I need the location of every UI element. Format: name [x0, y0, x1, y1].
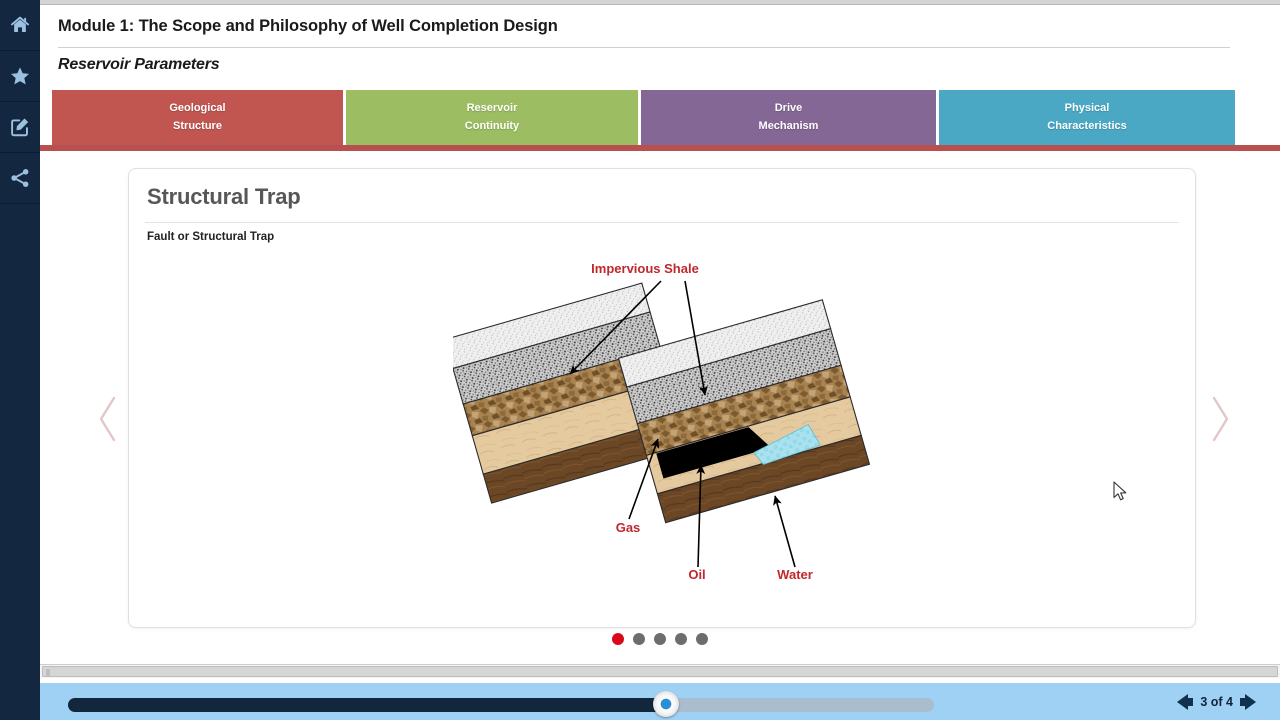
- home-icon: [9, 14, 31, 36]
- tab-physical-characteristics[interactable]: Physical Characteristics: [939, 90, 1235, 145]
- slide-pager: 3 of 4: [1177, 694, 1256, 710]
- progress-fill: [68, 698, 666, 712]
- section-subtitle: Reservoir Parameters: [58, 56, 219, 74]
- card-title: Structural Trap: [147, 184, 300, 210]
- prev-slide-chevron[interactable]: [88, 390, 128, 448]
- scrollbar-track[interactable]: [42, 666, 1278, 677]
- tab-reservoir-continuity[interactable]: Reservoir Continuity: [346, 90, 638, 145]
- triangle-left-icon: [1177, 694, 1188, 710]
- leader-water: [775, 496, 795, 567]
- sidebar-item-favorites[interactable]: [0, 51, 40, 102]
- tab-label-line2: Continuity: [465, 118, 519, 135]
- diagram-container: Impervious Shale Gas Oil Water: [129, 255, 1197, 625]
- label-oil: Oil: [688, 567, 705, 582]
- next-slide-chevron[interactable]: [1200, 390, 1240, 448]
- tab-underline-bar: [40, 145, 1280, 151]
- carousel-dot[interactable]: [696, 633, 708, 645]
- carousel-dot[interactable]: [675, 633, 687, 645]
- edit-note-icon: [9, 116, 31, 138]
- title-divider: [58, 47, 1230, 48]
- pager-next-button[interactable]: [1240, 694, 1256, 710]
- progress-track[interactable]: [68, 698, 934, 712]
- tab-label-line2: Mechanism: [759, 118, 819, 135]
- star-icon: [9, 65, 31, 87]
- label-water: Water: [777, 567, 813, 582]
- player-bar: 3 of 4: [40, 681, 1280, 720]
- carousel-dot[interactable]: [633, 633, 645, 645]
- progress-thumb[interactable]: [653, 691, 679, 717]
- triangle-left-stem: [1188, 698, 1193, 706]
- structural-trap-diagram: Impervious Shale Gas Oil Water: [453, 255, 873, 600]
- tab-label-line1: Reservoir: [467, 100, 518, 117]
- pager-prev-button[interactable]: [1177, 694, 1193, 710]
- content-card: Structural Trap Fault or Structural Trap: [128, 168, 1196, 628]
- chevron-left-icon: [88, 390, 128, 448]
- tab-geological-structure[interactable]: Geological Structure: [52, 90, 343, 145]
- label-gas: Gas: [616, 520, 641, 535]
- chevron-right-icon: [1200, 390, 1240, 448]
- carousel-dot[interactable]: [654, 633, 666, 645]
- sidebar-item-home[interactable]: [0, 0, 40, 51]
- tab-label-line1: Physical: [1065, 100, 1110, 117]
- carousel-dots: [40, 633, 1280, 645]
- pager-label: 3 of 4: [1200, 695, 1233, 709]
- sidebar-item-notes[interactable]: [0, 102, 40, 153]
- card-subtitle: Fault or Structural Trap: [147, 231, 274, 243]
- share-icon: [9, 167, 31, 189]
- page-title: Module 1: The Scope and Philosophy of We…: [58, 17, 558, 36]
- carousel-dot[interactable]: [612, 633, 624, 645]
- tab-label-line1: Drive: [775, 100, 803, 117]
- tab-label-line1: Geological: [169, 100, 225, 117]
- elearning-window: Module 1: The Scope and Philosophy of We…: [0, 0, 1280, 720]
- sidebar-item-share[interactable]: [0, 153, 40, 204]
- horizontal-scrollbar[interactable]: [40, 664, 1280, 678]
- triangle-right-icon: [1245, 694, 1256, 710]
- scrollbar-grip: [46, 669, 50, 677]
- label-impervious-shale: Impervious Shale: [591, 261, 699, 276]
- tab-drive-mechanism[interactable]: Drive Mechanism: [641, 90, 936, 145]
- tab-label-line2: Structure: [173, 118, 222, 135]
- tab-label-line2: Characteristics: [1047, 118, 1127, 135]
- card-divider: [145, 222, 1179, 223]
- left-sidebar: [0, 0, 40, 720]
- content-stage: Module 1: The Scope and Philosophy of We…: [40, 5, 1280, 720]
- parameter-tabs: Geological Structure Reservoir Continuit…: [52, 90, 1249, 145]
